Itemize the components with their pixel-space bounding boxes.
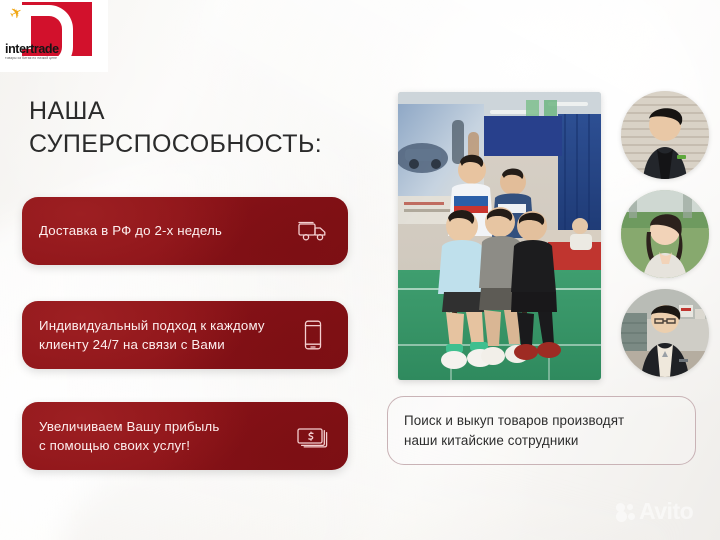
banknote-icon	[292, 424, 334, 448]
brand-tagline: товары из Китая по низкой цене	[5, 56, 57, 60]
avito-label: Avito	[639, 500, 693, 523]
avatar-photo-1	[621, 91, 709, 179]
feature-card-delivery[interactable]: Доставка в РФ до 2-х недель	[22, 197, 348, 265]
smartphone-icon	[292, 320, 334, 350]
brand-name: intertrade	[5, 42, 59, 56]
feature-card-text: Увеличиваем Вашу прибыль с помощью своих…	[39, 417, 292, 456]
avatar-photo-3	[621, 289, 709, 377]
team-photo	[398, 92, 601, 380]
avito-watermark: Avito	[616, 500, 693, 523]
avatar-photo-2	[621, 190, 709, 278]
slide-canvas: ✈ intertrade товары из Китая по низкой ц…	[0, 0, 720, 540]
note-text: Поиск и выкуп товаров производят наши ки…	[404, 411, 624, 450]
avito-dots-icon	[616, 503, 635, 520]
brand-logo: ✈ intertrade товары из Китая по низкой ц…	[0, 0, 108, 72]
truck-icon	[292, 220, 334, 242]
note-box: Поиск и выкуп товаров производят наши ки…	[387, 396, 696, 465]
feature-card-text: Доставка в РФ до 2-х недель	[39, 221, 292, 240]
feature-card-text: Индивидуальный подход к каждому клиенту …	[39, 316, 292, 355]
feature-card-support[interactable]: Индивидуальный подход к каждому клиенту …	[22, 301, 348, 369]
feature-card-profit[interactable]: Увеличиваем Вашу прибыль с помощью своих…	[22, 402, 348, 470]
page-title: НАША СУПЕРСПОСОБНОСТЬ:	[29, 95, 322, 162]
